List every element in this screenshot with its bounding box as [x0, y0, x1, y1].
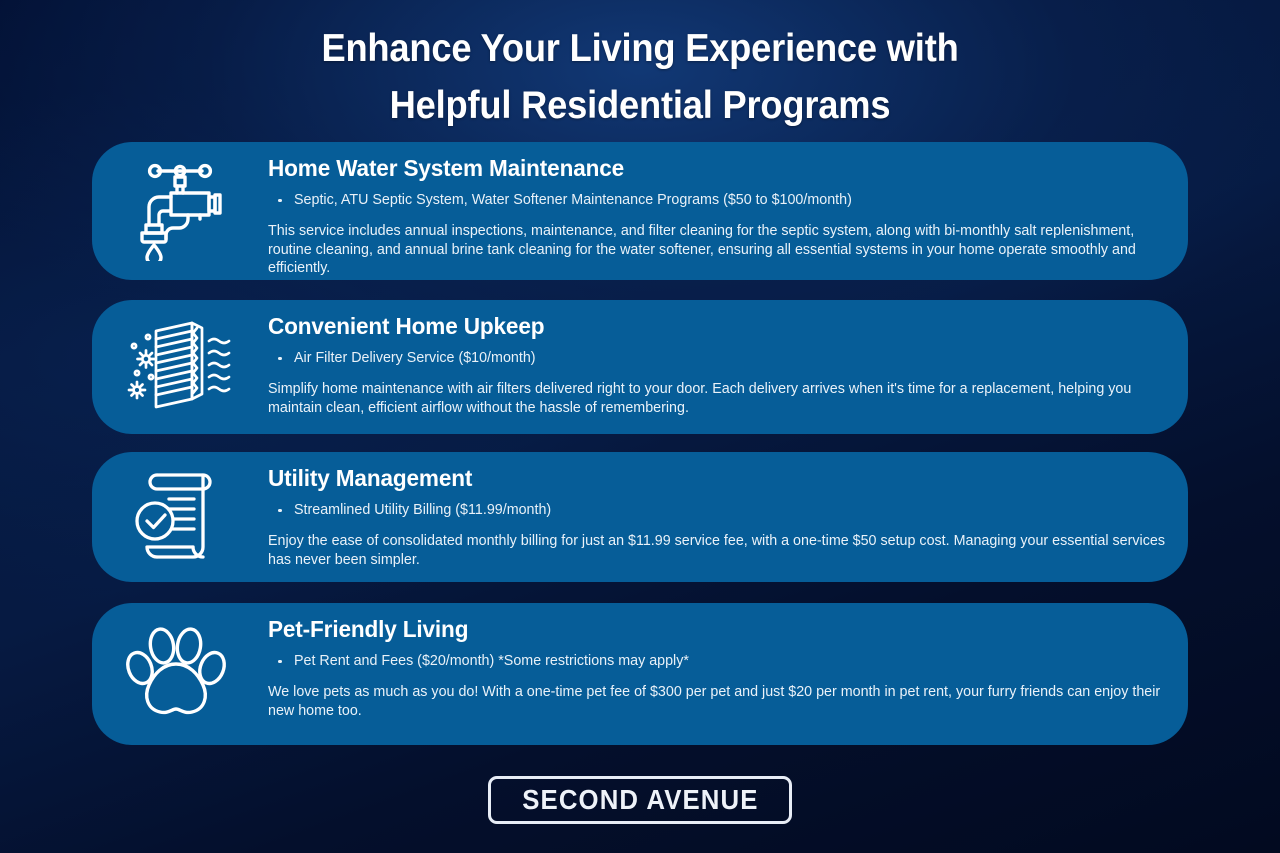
bullet-dot-icon [278, 357, 282, 361]
logo-text: SECOND AVENUE [522, 786, 758, 814]
card-description: This service includes annual inspections… [268, 222, 1174, 278]
card-description: We love pets as much as you do! With a o… [268, 683, 1174, 720]
page-title-line-1: Enhance Your Living Experience with [45, 20, 1235, 77]
air-filter-icon [126, 315, 234, 415]
faucet-water-drop-icon [128, 157, 232, 261]
card-icon-slot [92, 300, 268, 434]
bullet-dot-icon [278, 199, 282, 203]
card-title: Convenient Home Upkeep [268, 313, 1138, 340]
card-bullet-list: Pet Rent and Fees ($20/month) *Some rest… [268, 652, 1174, 671]
program-card-home-water-system-maintenance: Home Water System Maintenance Septic, AT… [92, 142, 1188, 280]
list-item: Septic, ATU Septic System, Water Softene… [268, 191, 1174, 210]
card-icon-slot [92, 603, 268, 745]
second-avenue-logo: SECOND AVENUE [488, 776, 792, 824]
card-body: Home Water System Maintenance Septic, AT… [268, 142, 1188, 278]
list-item: Air Filter Delivery Service ($10/month) [268, 349, 1174, 368]
list-item: Pet Rent and Fees ($20/month) *Some rest… [268, 652, 1174, 671]
card-body: Utility Management Streamlined Utility B… [268, 452, 1188, 569]
bullet-text: Septic, ATU Septic System, Water Softene… [294, 192, 852, 208]
program-card-pet-friendly-living: Pet-Friendly Living Pet Rent and Fees ($… [92, 603, 1188, 745]
infographic-page: Enhance Your Living Experience with Help… [0, 0, 1280, 853]
bullet-dot-icon [278, 509, 282, 513]
card-description: Enjoy the ease of consolidated monthly b… [268, 532, 1174, 569]
page-title: Enhance Your Living Experience with Help… [0, 20, 1280, 134]
card-icon-slot [92, 142, 268, 280]
card-bullet-list: Septic, ATU Septic System, Water Softene… [268, 191, 1174, 210]
list-item: Streamlined Utility Billing ($11.99/mont… [268, 501, 1174, 520]
card-title: Home Water System Maintenance [268, 155, 1138, 182]
bullet-text: Streamlined Utility Billing ($11.99/mont… [294, 502, 551, 518]
card-title: Pet-Friendly Living [268, 616, 1138, 643]
bullet-text: Pet Rent and Fees ($20/month) *Some rest… [294, 653, 689, 669]
bullet-dot-icon [278, 660, 282, 664]
invoice-scroll-check-icon [128, 463, 232, 567]
page-title-line-2: Helpful Residential Programs [45, 77, 1235, 134]
logo-inner-border: SECOND AVENUE [491, 779, 789, 821]
card-body: Convenient Home Upkeep Air Filter Delive… [268, 300, 1188, 417]
program-card-utility-management: Utility Management Streamlined Utility B… [92, 452, 1188, 582]
card-icon-slot [92, 452, 268, 582]
paw-print-icon [126, 620, 234, 724]
card-bullet-list: Air Filter Delivery Service ($10/month) [268, 349, 1174, 368]
program-card-convenient-home-upkeep: Convenient Home Upkeep Air Filter Delive… [92, 300, 1188, 434]
card-description: Simplify home maintenance with air filte… [268, 380, 1174, 417]
card-title: Utility Management [268, 465, 1138, 492]
card-body: Pet-Friendly Living Pet Rent and Fees ($… [268, 603, 1188, 720]
card-bullet-list: Streamlined Utility Billing ($11.99/mont… [268, 501, 1174, 520]
bullet-text: Air Filter Delivery Service ($10/month) [294, 350, 536, 366]
